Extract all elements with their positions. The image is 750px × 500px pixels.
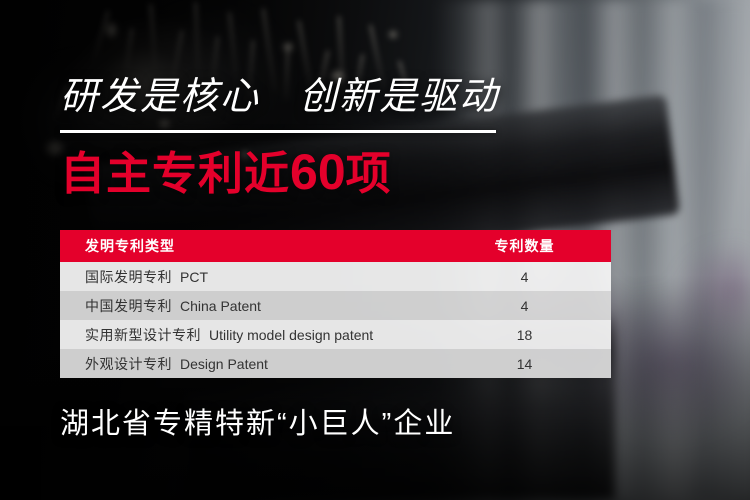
poster-content: 研发是核心 创新是驱动 自主专利近60项 发明专利类型 专利数量 国际发明专利P… <box>0 0 750 500</box>
headline-divider-rule <box>60 130 496 133</box>
patent-type-en: China Patent <box>180 298 261 314</box>
patent-type-en: Utility model design patent <box>209 327 373 343</box>
patent-type-cn: 外观设计专利 <box>85 356 172 372</box>
table-row: 外观设计专利Design Patent 14 <box>60 349 611 378</box>
table-cell-count: 4 <box>452 269 611 285</box>
patent-type-cn: 国际发明专利 <box>85 269 172 285</box>
table-cell-type: 中国发明专利China Patent <box>60 296 452 316</box>
patent-table: 发明专利类型 专利数量 国际发明专利PCT 4 中国发明专利China Pate… <box>60 230 611 378</box>
table-cell-count: 4 <box>452 298 611 314</box>
patent-poster: 研发是核心 创新是驱动 自主专利近60项 发明专利类型 专利数量 国际发明专利P… <box>0 0 750 500</box>
table-row: 国际发明专利PCT 4 <box>60 262 611 291</box>
patent-type-cn: 实用新型设计专利 <box>85 327 201 343</box>
table-header-row: 发明专利类型 专利数量 <box>60 230 611 262</box>
patent-type-en: Design Patent <box>180 356 268 372</box>
table-row: 实用新型设计专利Utility model design patent 18 <box>60 320 611 349</box>
table-cell-count: 14 <box>452 356 611 372</box>
table-row: 中国发明专利China Patent 4 <box>60 291 611 320</box>
table-header-type: 发明专利类型 <box>60 236 452 256</box>
patent-type-cn: 中国发明专利 <box>85 298 172 314</box>
table-header-count: 专利数量 <box>452 236 611 256</box>
headline-secondary-prefix: 自主专利近 <box>60 148 290 199</box>
headline-secondary-suffix: 项 <box>346 148 392 199</box>
headline-primary-right: 创新是驱动 <box>299 76 499 118</box>
headline-primary-left: 研发是核心 <box>60 76 260 118</box>
headline-patent-count: 60 <box>290 144 346 200</box>
table-cell-type: 国际发明专利PCT <box>60 267 452 287</box>
headline-primary: 研发是核心 创新是驱动 <box>60 78 499 116</box>
headline-secondary: 自主专利近60项 <box>60 145 392 199</box>
bottom-caption: 湖北省专精特新“小巨人”企业 <box>60 400 455 442</box>
table-cell-type: 外观设计专利Design Patent <box>60 354 452 374</box>
table-cell-type: 实用新型设计专利Utility model design patent <box>60 325 452 345</box>
patent-type-en: PCT <box>180 269 208 285</box>
table-cell-count: 18 <box>452 327 611 343</box>
